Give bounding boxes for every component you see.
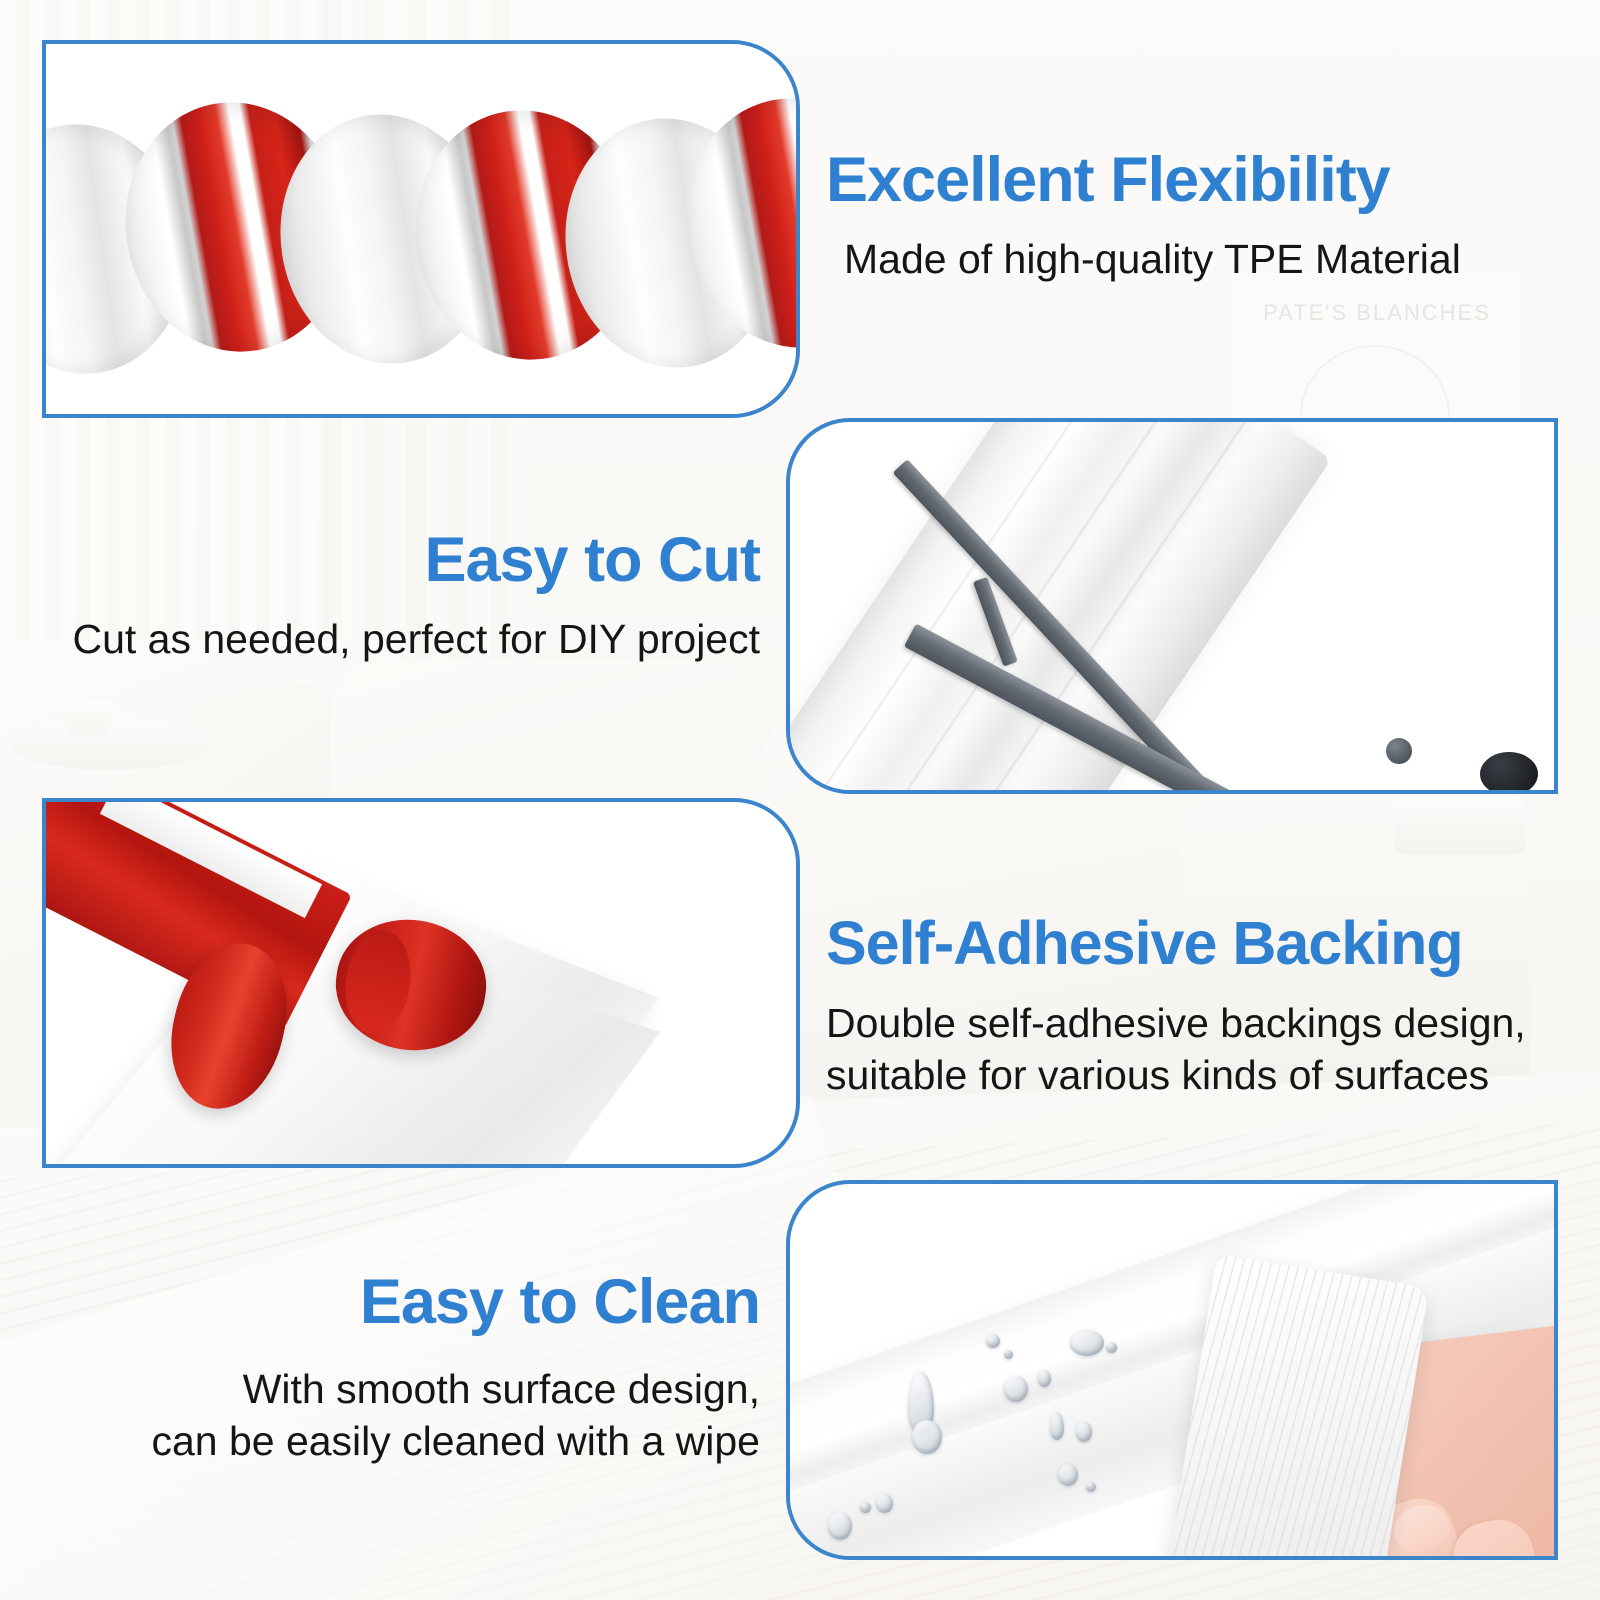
water-droplet bbox=[1004, 1350, 1013, 1359]
water-droplet bbox=[1076, 1422, 1092, 1442]
product-feature-infographic: PATE'S BLANCHES Excellent Flexibility Ma… bbox=[0, 0, 1600, 1600]
water-droplet bbox=[1004, 1376, 1028, 1402]
feature-text-easy-to-clean: Easy to Clean With smooth surface design… bbox=[20, 1270, 760, 1468]
scissors-handle bbox=[1480, 752, 1538, 794]
feature-headline-excellent-flexibility: Excellent Flexibility bbox=[826, 148, 1586, 212]
feature-headline-self-adhesive-backing: Self-Adhesive Backing bbox=[826, 912, 1588, 974]
scissors-cutting-illustration bbox=[790, 422, 1554, 790]
water-droplet bbox=[1058, 1464, 1078, 1486]
water-droplet bbox=[1038, 1370, 1051, 1387]
water-droplet bbox=[912, 1420, 942, 1454]
water-droplet bbox=[986, 1334, 1000, 1348]
feature-subline-easy-to-clean-line1: With smooth surface design, bbox=[20, 1364, 760, 1416]
water-droplet bbox=[828, 1512, 852, 1540]
water-droplet bbox=[1070, 1330, 1104, 1356]
scissors-pivot-screw-icon bbox=[1386, 738, 1412, 764]
feature-headline-easy-to-clean: Easy to Clean bbox=[20, 1270, 760, 1334]
feature-subline-self-adhesive-backing-line1: Double self-adhesive backings design, bbox=[826, 998, 1588, 1050]
wiping-strip-illustration bbox=[790, 1184, 1554, 1556]
feature-image-panel-excellent-flexibility bbox=[42, 40, 800, 418]
feature-headline-easy-to-cut: Easy to Cut bbox=[20, 528, 760, 592]
water-droplet bbox=[1050, 1412, 1064, 1440]
finger-ring bbox=[1448, 1514, 1558, 1560]
feature-subline-easy-to-clean-line2: can be easily cleaned with a wipe bbox=[20, 1416, 760, 1468]
coiled-strip-illustration bbox=[46, 44, 796, 414]
feature-text-easy-to-cut: Easy to Cut Cut as needed, perfect for D… bbox=[20, 528, 760, 666]
feature-subline-excellent-flexibility: Made of high-quality TPE Material bbox=[844, 234, 1586, 286]
feature-image-panel-self-adhesive-backing bbox=[42, 798, 800, 1168]
water-droplet bbox=[1086, 1482, 1096, 1492]
feature-text-excellent-flexibility: Excellent Flexibility Made of high-quali… bbox=[826, 148, 1586, 286]
adhesive-strip-illustration bbox=[46, 802, 796, 1164]
feature-subline-self-adhesive-backing-line2: suitable for various kinds of surfaces bbox=[826, 1050, 1588, 1102]
water-droplet bbox=[876, 1494, 893, 1513]
feature-text-self-adhesive-backing: Self-Adhesive Backing Double self-adhesi… bbox=[826, 912, 1588, 1102]
water-droplet bbox=[1106, 1342, 1117, 1353]
feature-image-panel-easy-to-clean bbox=[786, 1180, 1558, 1560]
feature-subline-easy-to-cut: Cut as needed, perfect for DIY project bbox=[20, 614, 760, 666]
feature-image-panel-easy-to-cut bbox=[786, 418, 1558, 794]
white-strip-being-cut bbox=[786, 418, 1331, 794]
water-droplet bbox=[860, 1502, 871, 1513]
